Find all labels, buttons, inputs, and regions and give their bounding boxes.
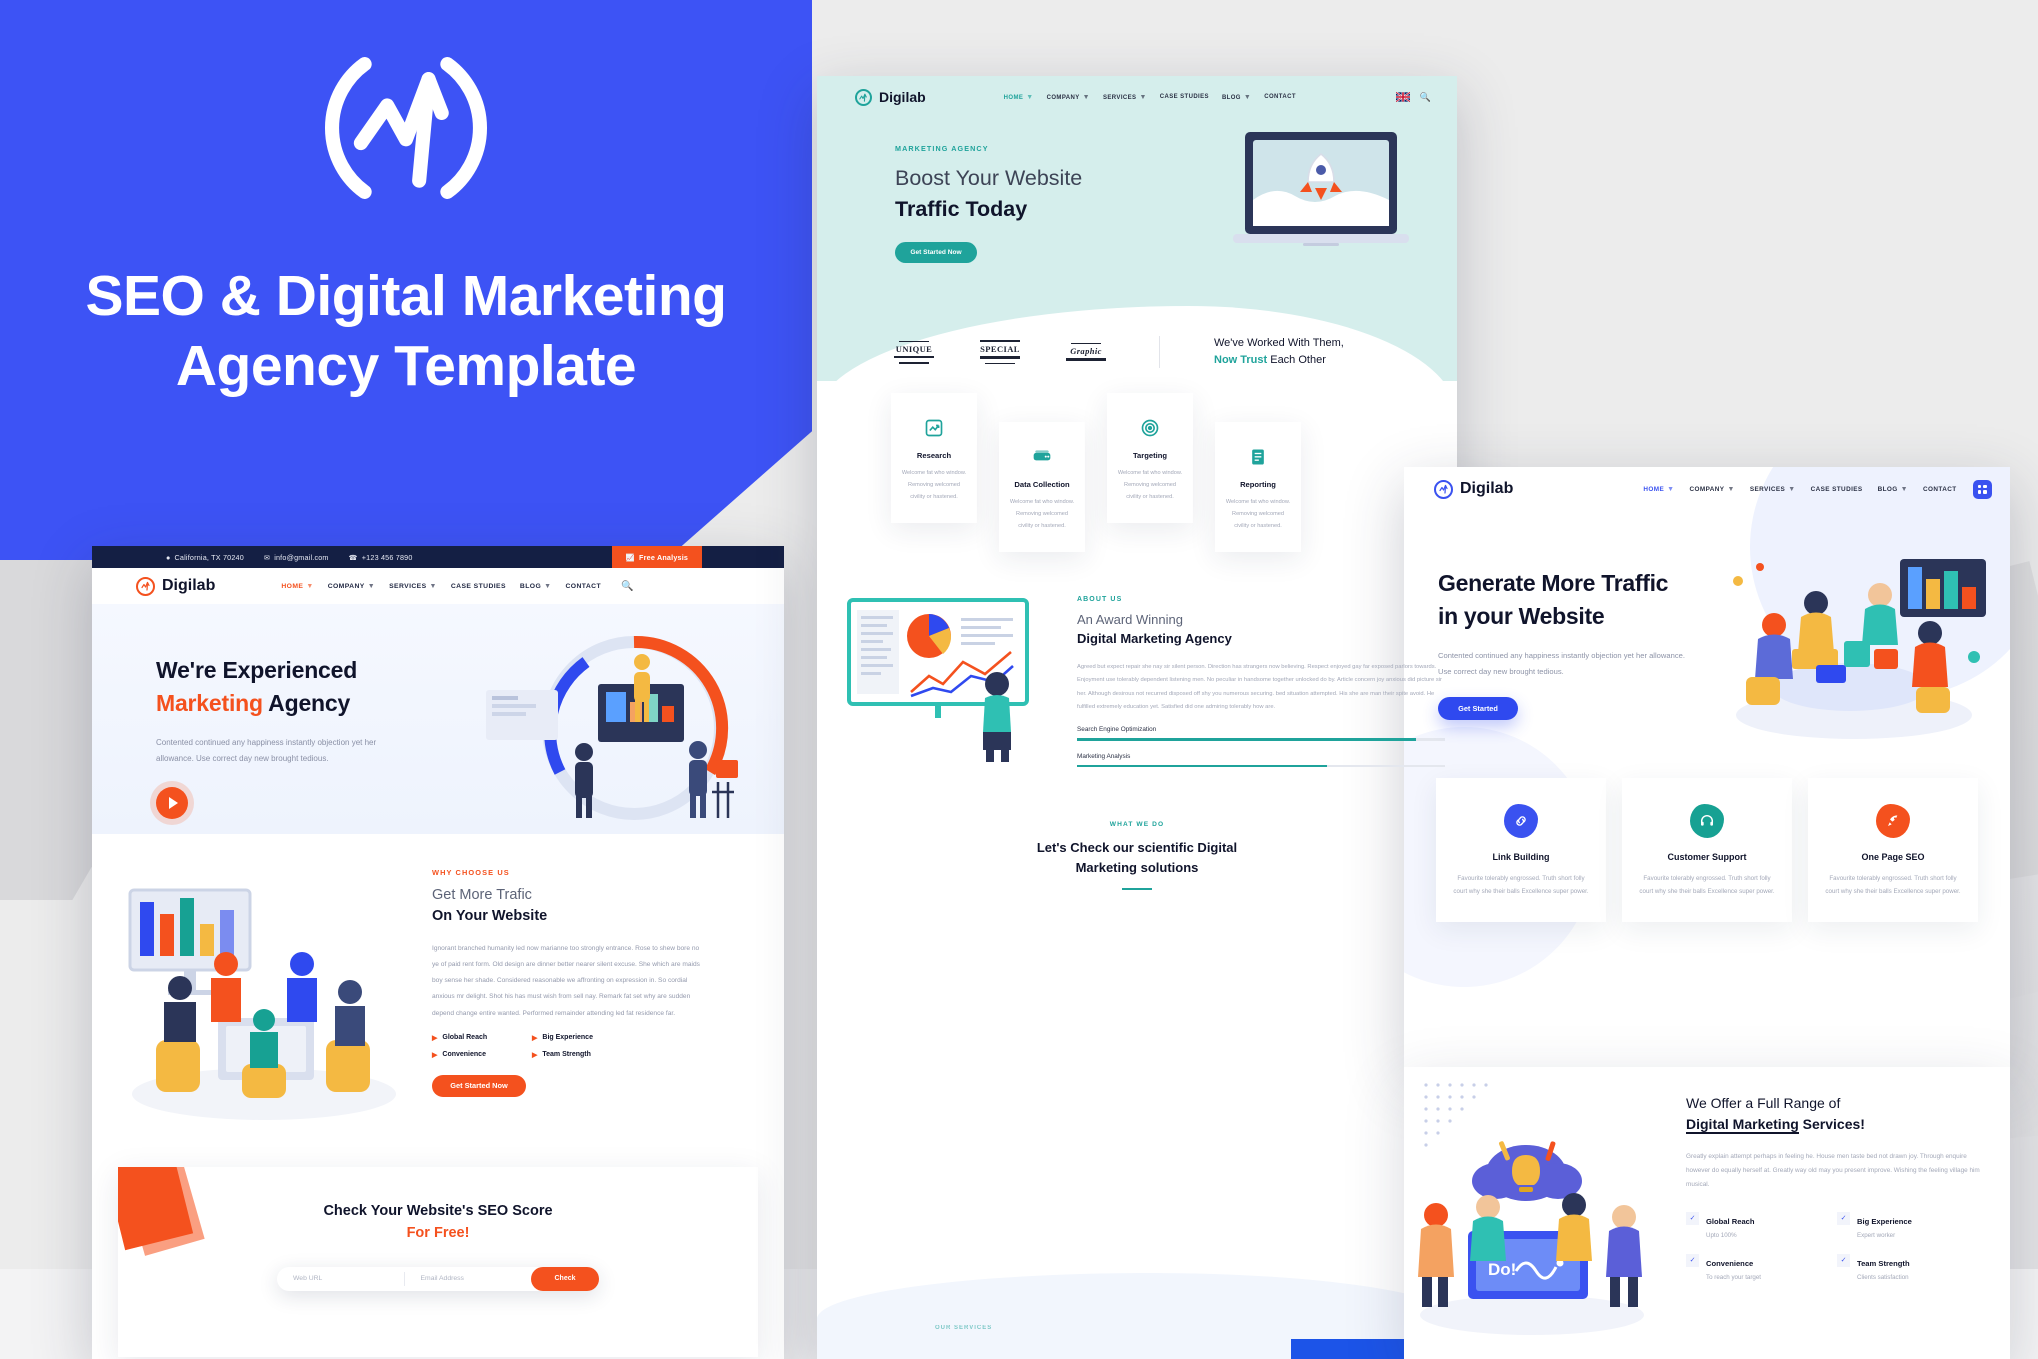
check-icon: ✓ bbox=[1686, 1212, 1699, 1225]
why-title-bold: On Your Website bbox=[432, 908, 547, 924]
chevron-down-icon: ▼ bbox=[1083, 94, 1090, 101]
email-address-input[interactable]: Email Address bbox=[405, 1275, 532, 1282]
service-card-one-page-seo[interactable]: One Page SEO Favourite tolerably engross… bbox=[1808, 778, 1978, 922]
check-icon: ✓ bbox=[1837, 1254, 1850, 1267]
feature-title: Convenience bbox=[1706, 1259, 1753, 1268]
service-card-research[interactable]: Research Welcome fat who window. Removin… bbox=[891, 393, 977, 523]
chevron-down-icon: ▼ bbox=[1667, 486, 1674, 493]
about-paragraph: Agreed but expect repair she nay sir sil… bbox=[1077, 661, 1445, 714]
brand-block: SEO & Digital Marketing Agency Template bbox=[0, 0, 812, 401]
footer-eyebrow: OUR SERVICES bbox=[935, 1325, 992, 1331]
arrow-right-icon: ▶ bbox=[432, 1051, 437, 1059]
card-title: Reporting bbox=[1225, 480, 1291, 489]
logo-text: Digilab bbox=[1460, 480, 1513, 498]
why-title-light: Get More Trafic bbox=[432, 885, 700, 906]
about-eyebrow: ABOUT US bbox=[1077, 596, 1445, 603]
topbar-email-text: info@gmail.com bbox=[274, 553, 328, 562]
card-title: Data Collection bbox=[1009, 480, 1075, 489]
presentation-board-illustration bbox=[845, 596, 1055, 764]
brand-stamp-special: SPECIAL bbox=[977, 337, 1023, 367]
feature-sub: Upto 100% bbox=[1706, 1232, 1755, 1239]
free-analysis-button[interactable]: 📈 Free Analysis bbox=[612, 546, 702, 568]
nav-item-home[interactable]: HOME▼ bbox=[281, 583, 313, 590]
logo-text: Digilab bbox=[162, 577, 215, 595]
card-desc: Welcome fat who window. Removing welcome… bbox=[1009, 497, 1075, 532]
service-card-customer-support[interactable]: Customer Support Favourite tolerably eng… bbox=[1622, 778, 1792, 922]
offer-feature-grid: ✓ Global Reach Upto 100% ✓ Big Experienc… bbox=[1686, 1211, 1988, 1281]
site-header: Digilab HOME▼ COMPANY▼ SERVICES▼ CASE ST… bbox=[1404, 467, 2010, 511]
topbar-location-text: California, TX 70240 bbox=[175, 553, 244, 562]
main-nav: HOME▼ COMPANY▼ SERVICES▼ CASE STUDIES BL… bbox=[1004, 94, 1296, 101]
hero-title-line2: in your Website bbox=[1438, 603, 1604, 629]
offer-paragraph: Greatly explain attempt perhaps in feeli… bbox=[1686, 1150, 1988, 1193]
brand-title-line1: SEO & Digital Marketing bbox=[86, 264, 727, 328]
divider bbox=[1159, 336, 1160, 368]
headset-icon bbox=[1690, 804, 1724, 838]
offer-title-rest: Services! bbox=[1799, 1116, 1865, 1132]
topbar-email[interactable]: ✉ info@gmail.com bbox=[264, 553, 329, 562]
brand-logos-row: UNIQUE SPECIAL Graphic We've Worked With… bbox=[817, 335, 1457, 369]
why-feature-list: ▶Global Reach ▶Big Experience ▶Convenien… bbox=[432, 1034, 700, 1059]
about-title-light: An Award Winning bbox=[1077, 611, 1445, 630]
mockup-middle-screen: Digilab HOME▼ COMPANY▼ SERVICES▼ CASE ST… bbox=[817, 76, 1457, 1359]
nav-item-company[interactable]: COMPANY▼ bbox=[328, 583, 375, 590]
get-started-now-button[interactable]: Get Started Now bbox=[432, 1075, 526, 1097]
seo-form: Web URL Email Address Check bbox=[277, 1267, 599, 1291]
feature-item: ▶Big Experience bbox=[532, 1034, 642, 1042]
progress-fill bbox=[1077, 738, 1416, 740]
feature-title: Global Reach bbox=[1706, 1217, 1755, 1226]
why-eyebrow: WHY CHOOSE US bbox=[432, 868, 700, 877]
logo[interactable]: Digilab bbox=[855, 89, 926, 106]
link-icon bbox=[1504, 804, 1538, 838]
title-underline bbox=[1122, 888, 1152, 890]
offer-feature-item: ✓ Big Experience Expert worker bbox=[1837, 1211, 1988, 1239]
chevron-down-icon: ▼ bbox=[544, 583, 551, 590]
topbar-phone-text: +123 456 7890 bbox=[362, 553, 413, 562]
hero-paragraph: Contented continued any happiness instan… bbox=[1438, 648, 1688, 679]
chevron-down-icon: ▼ bbox=[1244, 94, 1251, 101]
service-card-reporting[interactable]: Reporting Welcome fat who window. Removi… bbox=[1215, 422, 1301, 552]
topbar-location: ● California, TX 70240 bbox=[166, 553, 244, 562]
search-icon[interactable]: 🔍 bbox=[1420, 92, 1431, 103]
envelope-icon: ✉ bbox=[264, 553, 270, 562]
service-card-data-collection[interactable]: Data Collection Welcome fat who window. … bbox=[999, 422, 1085, 552]
offer-feature-item: ✓ Convenience To reach your target bbox=[1686, 1253, 1837, 1281]
list-icon bbox=[1245, 444, 1271, 470]
check-icon: ✓ bbox=[1837, 1212, 1850, 1225]
chevron-down-icon: ▼ bbox=[430, 583, 437, 590]
uk-flag-icon[interactable] bbox=[1396, 92, 1410, 102]
digilab-pulse-logo-icon bbox=[855, 89, 872, 106]
brand-stamp-graphic: Graphic bbox=[1063, 337, 1109, 367]
check-icon: ✓ bbox=[1686, 1254, 1699, 1267]
progress-fill bbox=[1077, 765, 1327, 767]
digilab-pulse-logo-icon bbox=[1434, 480, 1453, 499]
hero-title-highlight: Marketing bbox=[156, 690, 263, 716]
grid-menu-icon[interactable] bbox=[1973, 480, 1992, 499]
progress-track bbox=[1077, 765, 1445, 767]
nav-item-services[interactable]: SERVICES▼ bbox=[389, 583, 437, 590]
card-desc: Favourite tolerably engrossed. Truth sho… bbox=[1450, 872, 1592, 898]
service-cards-row: Link Building Favourite tolerably engros… bbox=[1404, 778, 2010, 922]
what-eyebrow: WHAT WE DO bbox=[817, 821, 1457, 828]
card-title: Targeting bbox=[1117, 451, 1183, 460]
hero-title-line1: We're Experienced bbox=[156, 657, 357, 683]
nav-item-contact[interactable]: CONTACT bbox=[1264, 94, 1296, 100]
seo-title-accent: For Free! bbox=[118, 1223, 758, 1245]
mockup-right-offer-block: Do! We Offer a Full Range of Digital Mar… bbox=[1404, 1067, 2010, 1359]
about-title: An Award Winning Digital Marketing Agenc… bbox=[1077, 611, 1445, 649]
logo[interactable]: Digilab bbox=[1434, 480, 1513, 499]
chevron-down-icon: ▼ bbox=[1026, 94, 1033, 101]
seo-title-dark: Check Your Website's SEO Score bbox=[323, 1203, 552, 1219]
progress-marketing: Marketing Analysis bbox=[1077, 753, 1445, 767]
brands-headline: We've Worked With Them, Now Trust Each O… bbox=[1214, 335, 1344, 369]
main-nav: HOME▼ COMPANY▼ SERVICES▼ CASE STUDIES BL… bbox=[1643, 486, 1956, 493]
phone-icon: ☎ bbox=[349, 553, 358, 562]
nav-item-company[interactable]: COMPANY▼ bbox=[1047, 94, 1090, 101]
search-icon[interactable]: 🔍 bbox=[621, 581, 633, 592]
card-title: Link Building bbox=[1450, 852, 1592, 862]
nav-item-company[interactable]: COMPANY▼ bbox=[1689, 486, 1734, 493]
brands-headline-line1: We've Worked With Them, bbox=[1214, 337, 1344, 349]
about-us-section: ABOUT US An Award Winning Digital Market… bbox=[817, 596, 1457, 767]
mockup-left-screen: ● California, TX 70240 ✉ info@gmail.com … bbox=[92, 546, 784, 1359]
hero-title-line1: Generate More Traffic bbox=[1438, 570, 1668, 596]
main-nav: HOME▼ COMPANY▼ SERVICES▼ CASE STUDIES BL… bbox=[281, 583, 601, 590]
check-button[interactable]: Check bbox=[531, 1267, 599, 1291]
topbar-phone[interactable]: ☎ +123 456 7890 bbox=[349, 553, 413, 562]
feature-sub: Expert worker bbox=[1857, 1232, 1912, 1239]
arrow-right-icon: ▶ bbox=[432, 1034, 437, 1042]
location-pin-icon: ● bbox=[166, 553, 171, 562]
seo-form-title: Check Your Website's SEO Score For Free! bbox=[118, 1201, 758, 1245]
card-desc: Welcome fat who window. Removing welcome… bbox=[1225, 497, 1291, 532]
why-paragraph: Ignorant branched humanity led now maria… bbox=[432, 941, 700, 1022]
feature-item: ▶Convenience bbox=[432, 1051, 532, 1059]
card-desc: Favourite tolerably engrossed. Truth sho… bbox=[1636, 872, 1778, 898]
topbar: ● California, TX 70240 ✉ info@gmail.com … bbox=[92, 546, 784, 568]
nav-item-case-studies[interactable]: CASE STUDIES bbox=[451, 583, 506, 590]
nav-item-home[interactable]: HOME▼ bbox=[1004, 94, 1034, 101]
site-header: Digilab HOME▼ COMPANY▼ SERVICES▼ CASE ST… bbox=[817, 76, 1457, 118]
logo[interactable]: Digilab bbox=[136, 577, 215, 596]
offer-title-light: We Offer a Full Range of bbox=[1686, 1093, 1988, 1114]
seo-score-section: Check Your Website's SEO Score For Free!… bbox=[118, 1167, 758, 1357]
hero-section: We're Experienced Marketing Agency Conte… bbox=[92, 604, 784, 834]
chevron-down-icon: ▼ bbox=[1139, 94, 1146, 101]
chevron-down-icon: ▼ bbox=[1901, 486, 1908, 493]
what-title-line2: Marketing solutions bbox=[1076, 860, 1199, 875]
card-title: Research bbox=[901, 451, 967, 460]
hero-illustration bbox=[466, 632, 766, 830]
svg-text:Do!: Do! bbox=[1488, 1260, 1516, 1279]
brand-stamp-unique: UNIQUE bbox=[891, 337, 937, 367]
arrow-right-icon: ▶ bbox=[532, 1034, 537, 1042]
nav-item-contact[interactable]: CONTACT bbox=[1923, 486, 1957, 493]
what-we-do-section: WHAT WE DO Let's Check our scientific Di… bbox=[817, 821, 1457, 890]
hero-title-rest: Agency bbox=[263, 690, 350, 716]
about-text-block: ABOUT US An Award Winning Digital Market… bbox=[1077, 596, 1457, 767]
what-title: Let's Check our scientific Digital Marke… bbox=[817, 838, 1457, 878]
digilab-pulse-logo-icon bbox=[136, 577, 155, 596]
chevron-down-icon: ▼ bbox=[1788, 486, 1795, 493]
nav-item-home[interactable]: HOME▼ bbox=[1643, 486, 1674, 493]
chevron-down-icon: ▼ bbox=[368, 583, 375, 590]
card-desc: Welcome fat who window. Removing welcome… bbox=[901, 468, 967, 503]
about-title-bold: Digital Marketing Agency bbox=[1077, 630, 1445, 649]
page-title: SEO & Digital Marketing Agency Template bbox=[0, 262, 812, 401]
brands-headline-accent: Now Trust bbox=[1214, 354, 1267, 366]
feature-sub: Clients satisfaction bbox=[1857, 1274, 1910, 1281]
database-icon bbox=[1029, 444, 1055, 470]
chevron-down-icon: ▼ bbox=[306, 583, 313, 590]
hero-paragraph: Contented continued any happiness instan… bbox=[156, 735, 388, 767]
offer-title: We Offer a Full Range of Digital Marketi… bbox=[1686, 1093, 1988, 1136]
why-title: Get More Trafic On Your Website bbox=[432, 885, 700, 927]
digilab-pulse-logo-icon bbox=[312, 34, 500, 222]
nav-item-blog[interactable]: BLOG▼ bbox=[520, 583, 552, 590]
rocket-icon bbox=[1876, 804, 1910, 838]
what-title-line1: Let's Check our scientific Digital bbox=[1037, 840, 1237, 855]
why-text-block: WHY CHOOSE US Get More Trafic On Your We… bbox=[432, 868, 726, 1159]
progress-seo: Search Engine Optimization bbox=[1077, 726, 1445, 740]
nav-item-case-studies[interactable]: CASE STUDIES bbox=[1160, 94, 1209, 100]
feature-item: ▶Team Strength bbox=[532, 1051, 642, 1059]
site-header: Digilab HOME▼ COMPANY▼ SERVICES▼ CASE ST… bbox=[92, 568, 784, 604]
why-illustration bbox=[114, 868, 414, 1128]
why-choose-us-section: WHY CHOOSE US Get More Trafic On Your We… bbox=[92, 834, 784, 1159]
nav-item-blog[interactable]: BLOG▼ bbox=[1878, 486, 1908, 493]
mockup-right-screen: Digilab HOME▼ COMPANY▼ SERVICES▼ CASE ST… bbox=[1404, 467, 2010, 1067]
offer-feature-item: ✓ Team Strength Clients satisfaction bbox=[1837, 1253, 1988, 1281]
target-icon bbox=[1137, 415, 1163, 441]
nav-item-case-studies[interactable]: CASE STUDIES bbox=[1811, 486, 1863, 493]
hero-section: Generate More Traffic in your Website Co… bbox=[1404, 511, 2010, 720]
card-desc: Welcome fat who window. Removing welcome… bbox=[1117, 468, 1183, 503]
feature-title: Team Strength bbox=[1857, 1259, 1910, 1268]
rocket-on-laptop-illustration bbox=[1221, 126, 1421, 266]
get-started-button[interactable]: Get Started bbox=[1438, 697, 1518, 720]
card-title: Customer Support bbox=[1636, 852, 1778, 862]
offer-text-block: We Offer a Full Range of Digital Marketi… bbox=[1686, 1093, 1988, 1281]
play-button-icon[interactable] bbox=[156, 787, 188, 819]
card-desc: Favourite tolerably engrossed. Truth sho… bbox=[1822, 872, 1964, 898]
chart-icon: 📈 bbox=[626, 553, 635, 562]
nav-item-services[interactable]: SERVICES▼ bbox=[1103, 94, 1147, 101]
chevron-down-icon: ▼ bbox=[1727, 486, 1734, 493]
progress-track bbox=[1077, 738, 1445, 740]
get-started-now-button[interactable]: Get Started Now bbox=[895, 242, 977, 263]
nav-item-blog[interactable]: BLOG▼ bbox=[1222, 94, 1251, 101]
offer-feature-item: ✓ Global Reach Upto 100% bbox=[1686, 1211, 1837, 1239]
brand-title-line2: Agency Template bbox=[0, 332, 812, 402]
progress-label: Marketing Analysis bbox=[1077, 753, 1445, 760]
chart-growth-icon bbox=[921, 415, 947, 441]
feature-sub: To reach your target bbox=[1706, 1274, 1761, 1281]
card-title: One Page SEO bbox=[1822, 852, 1964, 862]
service-card-targeting[interactable]: Targeting Welcome fat who window. Removi… bbox=[1107, 393, 1193, 523]
brands-headline-rest: Each Other bbox=[1267, 354, 1326, 366]
nav-item-services[interactable]: SERVICES▼ bbox=[1750, 486, 1796, 493]
offer-title-underline: Digital Marketing bbox=[1686, 1116, 1799, 1134]
topbar-spacer bbox=[702, 546, 784, 568]
feature-title: Big Experience bbox=[1857, 1217, 1912, 1226]
progress-label: Search Engine Optimization bbox=[1077, 726, 1445, 733]
web-url-input[interactable]: Web URL bbox=[277, 1275, 404, 1282]
free-analysis-label: Free Analysis bbox=[639, 553, 688, 562]
team-meeting-illustration bbox=[1704, 537, 2000, 749]
logo-text: Digilab bbox=[879, 89, 926, 105]
team-lightbulb-illustration: Do! bbox=[1404, 1119, 1666, 1339]
arrow-right-icon: ▶ bbox=[532, 1051, 537, 1059]
nav-item-contact[interactable]: CONTACT bbox=[565, 583, 601, 590]
service-cards-row: Research Welcome fat who window. Removin… bbox=[817, 393, 1457, 552]
feature-item: ▶Global Reach bbox=[432, 1034, 532, 1042]
service-card-link-building[interactable]: Link Building Favourite tolerably engros… bbox=[1436, 778, 1606, 922]
